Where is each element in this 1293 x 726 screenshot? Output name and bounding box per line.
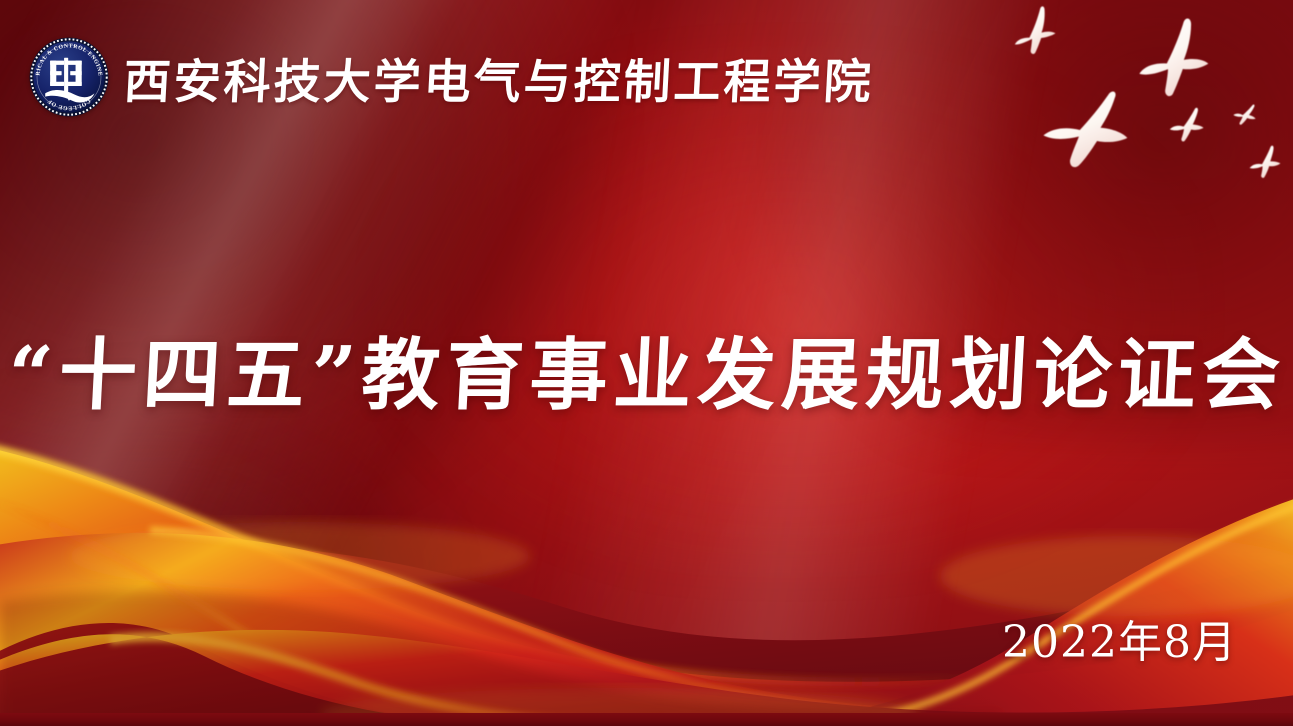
title-container: “十四五”教育事业发展规划论证会 — [0, 280, 1293, 472]
organization-name: 西安科技大学电气与控制工程学院 — [122, 43, 876, 112]
university-emblem-icon: ELECTRICAL & CONTROL ENGINEERING COLLEGE… — [28, 36, 110, 118]
bottom-border-strip — [0, 713, 1293, 726]
poster-canvas: ELECTRICAL & CONTROL ENGINEERING COLLEGE… — [0, 0, 1293, 726]
event-date: 2022年8月 — [1002, 617, 1237, 668]
page-title: “十四五”教育事业发展规划论证会 — [5, 332, 1287, 419]
header-brand: ELECTRICAL & CONTROL ENGINEERING COLLEGE… — [28, 36, 874, 118]
date-container: 2022年8月 — [1002, 606, 1237, 670]
